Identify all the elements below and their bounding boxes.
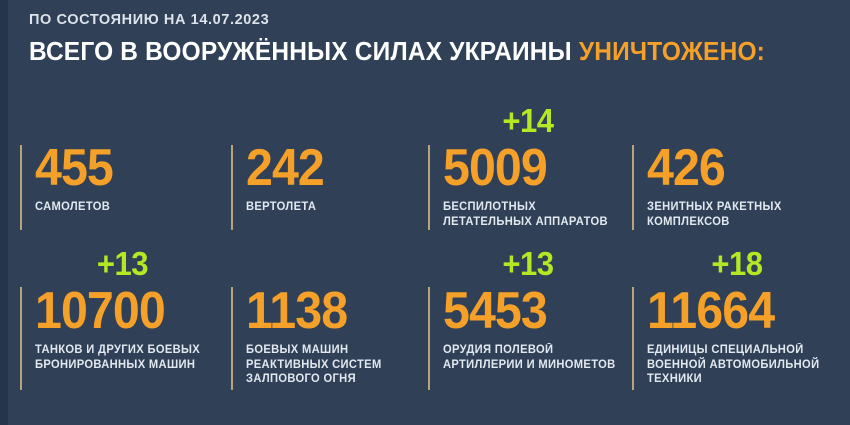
stat-label: САМОЛЕТОВ [35,200,219,215]
stat-body: 5009 БЕСПИЛОТНЫХЛЕТАТЕЛЬНЫХ АППАРАТОВ [443,141,628,229]
divider-line [20,145,22,230]
stat-value: 455 [35,141,212,196]
stat-body: 455 САМОЛЕТОВ [35,141,225,215]
stat-row-1: 455 САМОЛЕТОВ 242 ВЕРТОЛЕТА +14 5009 БЕС… [0,100,850,240]
stat-cell-tanks: +13 10700 ТАНКОВ И ДРУГИХ БОЕВЫХБРОНИРОВ… [20,243,225,383]
stat-label: ЗЕНИТНЫХ РАКЕТНЫХКОМПЛЕКСОВ [647,200,831,229]
divider-line [20,287,22,390]
divider-line [632,287,634,390]
stat-value: 426 [647,141,824,196]
divider-line [231,145,233,230]
stat-body: 242 ВЕРТОЛЕТА [246,141,423,215]
stat-label: ОРУДИЯ ПОЛЕВОЙАРТИЛЛЕРИИ И МИНОМЕТОВ [443,343,622,372]
divider-line [231,287,233,390]
header: ПО СОСТОЯНИЮ НА 14.07.2023 ВСЕГО В ВООРУ… [29,11,839,67]
stat-value: 242 [246,141,411,196]
divider-line [428,287,430,390]
infographic-page: ПО СОСТОЯНИЮ НА 14.07.2023 ВСЕГО В ВООРУ… [0,0,850,425]
stat-value: 5453 [443,284,615,339]
stat-value: 5009 [443,141,615,196]
stat-label: БОЕВЫХ МАШИНРЕАКТИВНЫХ СИСТЕМЗАЛПОВОГО О… [246,343,418,387]
divider-line [632,145,634,230]
stat-body: 426 ЗЕНИТНЫХ РАКЕТНЫХКОМПЛЕКСОВ [647,141,837,229]
stat-label: ВЕРТОЛЕТА [246,200,418,215]
page-title: ВСЕГО В ВООРУЖЁННЫХ СИЛАХ УКРАИНЫ УНИЧТО… [29,37,807,67]
stat-body: 5453 ОРУДИЯ ПОЛЕВОЙАРТИЛЛЕРИИ И МИНОМЕТО… [443,284,628,372]
delta-badge: +18 [638,247,835,281]
stat-value: 11664 [647,284,828,339]
stat-cell-aircraft: 455 САМОЛЕТОВ [20,100,225,240]
stat-body: 11664 ЕДИНИЦЫ СПЕЦИАЛЬНОЙВОЕННОЙ АВТОМОБ… [647,284,842,387]
stat-row-2: +13 10700 ТАНКОВ И ДРУГИХ БОЕВЫХБРОНИРОВ… [0,243,850,383]
stat-label: БЕСПИЛОТНЫХЛЕТАТЕЛЬНЫХ АППАРАТОВ [443,200,622,229]
stat-body: 10700 ТАНКОВ И ДРУГИХ БОЕВЫХБРОНИРОВАННЫ… [35,284,225,372]
stat-cell-helicopters: 242 ВЕРТОЛЕТА [231,100,423,240]
stat-value: 10700 [35,284,212,339]
delta-badge: +13 [26,247,219,281]
delta-badge: +13 [434,247,622,281]
as-of-date: ПО СОСТОЯНИЮ НА 14.07.2023 [29,11,839,29]
stat-cell-air-defense: 426 ЗЕНИТНЫХ РАКЕТНЫХКОМПЛЕКСОВ [632,100,837,240]
stat-cell-military-vehicles: +18 11664 ЕДИНИЦЫ СПЕЦИАЛЬНОЙВОЕННОЙ АВТ… [632,243,842,383]
stat-cell-mlrs: 1138 БОЕВЫХ МАШИНРЕАКТИВНЫХ СИСТЕМЗАЛПОВ… [231,243,423,383]
stat-cell-uav: +14 5009 БЕСПИЛОТНЫХЛЕТАТЕЛЬНЫХ АППАРАТО… [428,100,628,240]
page-title-main: ВСЕГО В ВООРУЖЁННЫХ СИЛАХ УКРАИНЫ [29,38,579,66]
page-title-accent: УНИЧТОЖЕНО: [579,38,765,66]
stat-value: 1138 [246,284,411,339]
stat-label: ЕДИНИЦЫ СПЕЦИАЛЬНОЙВОЕННОЙ АВТОМОБИЛЬНОЙ… [647,343,836,387]
delta-badge: +14 [434,104,622,138]
stat-label: ТАНКОВ И ДРУГИХ БОЕВЫХБРОНИРОВАННЫХ МАШИ… [35,343,219,372]
divider-line [428,145,430,230]
stat-cell-artillery: +13 5453 ОРУДИЯ ПОЛЕВОЙАРТИЛЛЕРИИ И МИНО… [428,243,628,383]
stat-body: 1138 БОЕВЫХ МАШИНРЕАКТИВНЫХ СИСТЕМЗАЛПОВ… [246,284,423,387]
